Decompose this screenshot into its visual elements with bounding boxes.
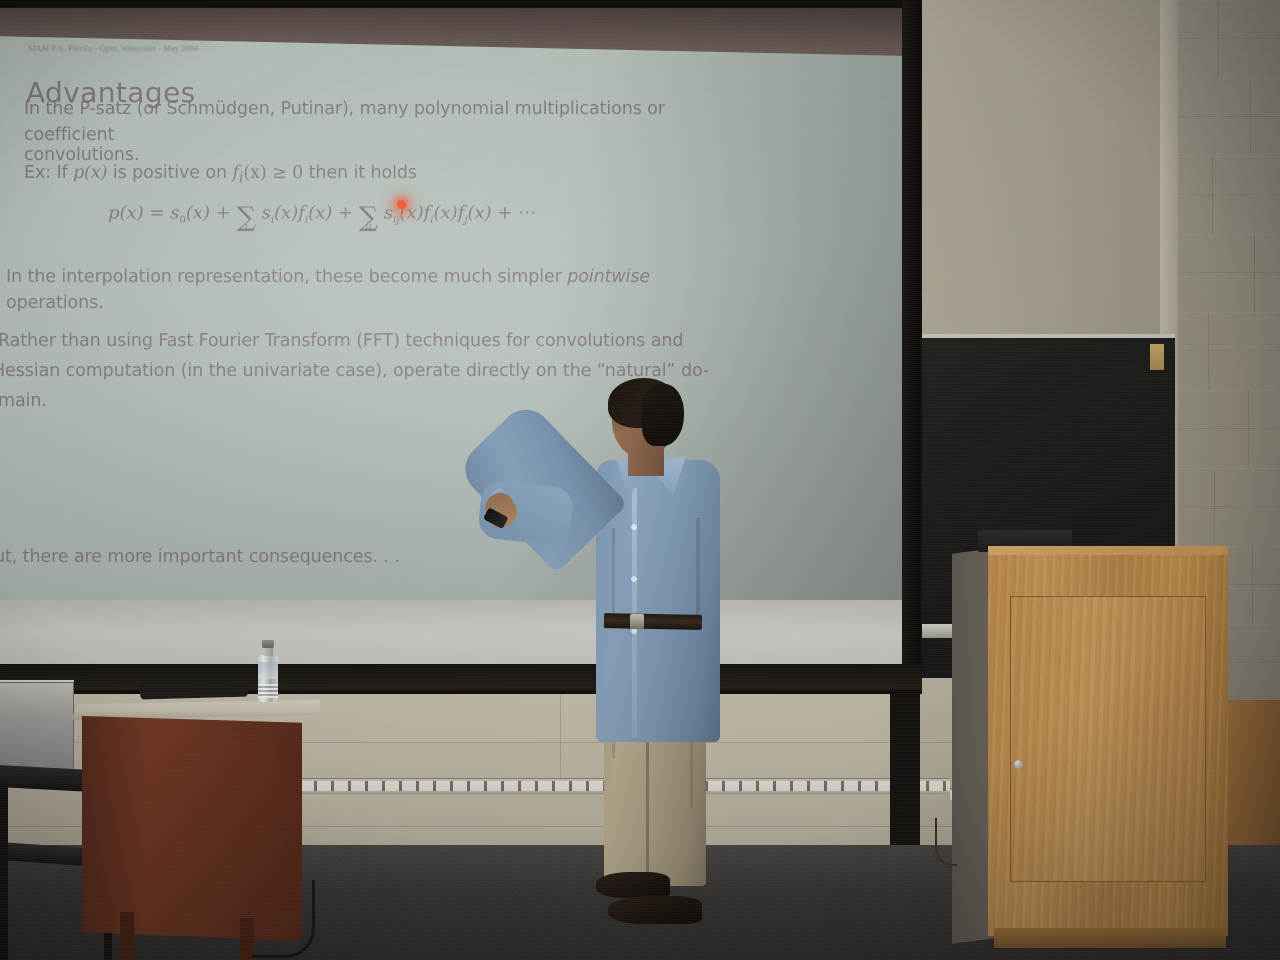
lecture-room-photo: SIAM P.A. Parrilo - Oper. Worcester - Ma… [0,0,1280,960]
presenter-belt [604,613,702,630]
podium-base [994,928,1226,948]
podium-door-panel [1010,596,1206,882]
slide-equation: p(x) = s0(x) + ∑i si(x)fi(x) + ∑ij sij(x… [108,198,536,229]
slide-content: SIAM P.A. Parrilo - Oper. Worcester - Ma… [0,8,912,608]
podium-cable [935,818,957,866]
storage-bin: G-70 [0,682,74,776]
presenter-shoe-front [608,896,702,924]
presenter [520,348,740,938]
desk-cable [252,880,315,958]
projection-screen-surface: SIAM P.A. Parrilo - Oper. Worcester - Ma… [0,8,912,680]
chair-back [140,681,248,700]
bottle-neck [263,647,273,656]
presenter-hand [479,488,522,533]
bottle-cap [262,640,274,648]
slide-bullet-5: ut, there are more important consequence… [0,544,400,570]
laser-pointer-dot [397,200,406,209]
bottle-ribs [258,684,278,698]
presenter-forearm [477,479,575,546]
presenter-shoe-back [596,872,670,898]
podium-top-surface [988,546,1228,555]
slide-bullet-2: Ex: If p(x) is positive on fi(x) ≥ 0 the… [24,160,417,192]
podium-door-knob[interactable] [1014,760,1023,769]
slide-bullet-4-cont2: main. [0,388,47,414]
water-bottle [258,640,278,702]
slide-bullet-1: In the P-satz (or Schmüdgen, Putinar), m… [24,96,684,148]
belt-buckle [630,614,644,629]
chalkboard-notice-card [1150,344,1164,370]
bottle-label [258,662,278,679]
presenter-hair-back [642,384,684,446]
screen-bottom-weight-bar [0,664,922,690]
laser-pointer-device [483,507,509,529]
slide-bullet-3: In the interpolation representation, the… [6,264,696,316]
slide-header-line: SIAM P.A. Parrilo - Oper. Worcester - Ma… [28,44,199,53]
screen-right-edge [902,0,920,690]
upper-wall [900,0,1180,340]
